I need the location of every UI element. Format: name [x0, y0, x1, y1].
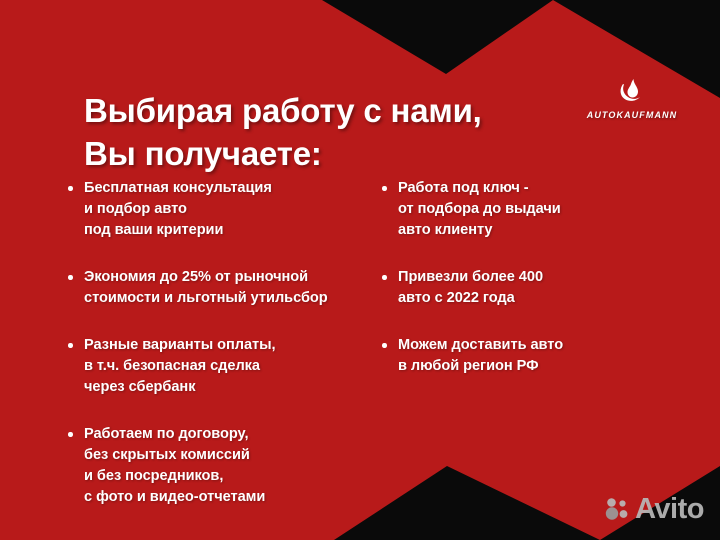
list-item: Экономия до 25% от рыночной стоимости и …	[68, 267, 340, 309]
benefits-left-column: Бесплатная консультация и подбор авто по…	[0, 178, 340, 498]
list-item: Разные варианты оплаты, в т.ч. безопасна…	[68, 335, 340, 398]
benefits-section: Бесплатная консультация и подбор авто по…	[0, 178, 720, 498]
flame-swoosh-icon	[617, 76, 647, 106]
avito-dots-icon	[604, 496, 630, 522]
avito-watermark: Avito	[604, 492, 704, 526]
benefits-right-column: Работа под ключ - от подбора до выдачи а…	[340, 178, 660, 498]
list-item: Бесплатная консультация и подбор авто по…	[68, 178, 340, 241]
logo-wordmark: AUTOKAUFMANN	[583, 110, 681, 120]
list-item: Работаем по договору, без скрытых комисс…	[68, 424, 340, 508]
list-item: Работа под ключ - от подбора до выдачи а…	[382, 178, 660, 241]
list-item: Можем доставить авто в любой регион РФ	[382, 335, 660, 377]
list-item: Привезли более 400 авто с 2022 года	[382, 267, 660, 309]
brand-logo: AUTOKAUFMANN	[583, 76, 681, 120]
promo-banner: Выбирая работу с нами, Вы получаете: AUT…	[0, 0, 720, 540]
page-title: Выбирая работу с нами, Вы получаете:	[84, 90, 554, 176]
avito-wordmark: Avito	[635, 495, 704, 524]
